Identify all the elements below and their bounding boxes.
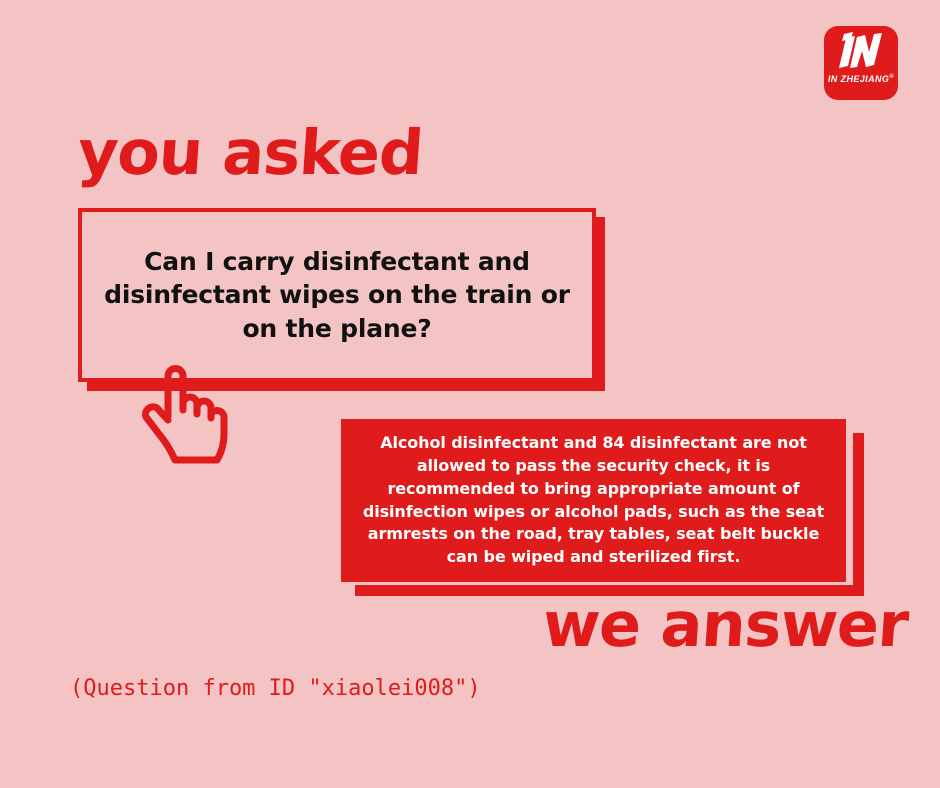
question-box: Can I carry disinfectant and disinfectan…	[78, 208, 596, 382]
answer-text: Alcohol disinfectant and 84 disinfectant…	[341, 432, 846, 568]
pointing-hand-cursor-icon	[137, 364, 229, 466]
faq-card: IN ZHEJIANG® you asked Can I carry disin…	[0, 0, 940, 788]
question-block: Can I carry disinfectant and disinfectan…	[78, 208, 596, 382]
answer-box-shadow-right	[853, 433, 864, 596]
heading-you-asked: you asked	[76, 122, 425, 184]
heading-we-answer: we answer	[541, 594, 910, 656]
answer-box: Alcohol disinfectant and 84 disinfectant…	[341, 419, 846, 582]
logo-wordmark: IN ZHEJIANG®	[824, 74, 898, 84]
in-zhejiang-logo[interactable]: IN ZHEJIANG®	[824, 26, 898, 100]
question-text: Can I carry disinfectant and disinfectan…	[82, 245, 592, 346]
question-source-note: (Question from ID "xiaolei008")	[70, 676, 481, 701]
answer-block: Alcohol disinfectant and 84 disinfectant…	[341, 419, 846, 582]
logo-in-mark	[824, 32, 898, 74]
registered-mark: ®	[889, 74, 894, 80]
